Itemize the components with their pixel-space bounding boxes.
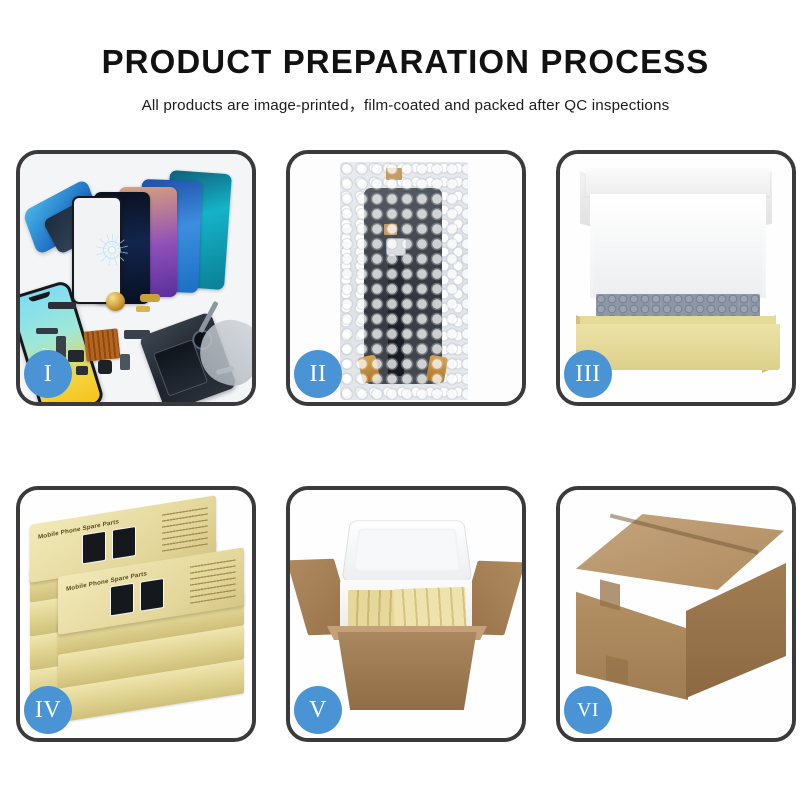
flex-cable [388,248,404,376]
small-part [48,302,76,309]
spec-text-lines [162,507,208,552]
process-step-panel-4[interactable]: Mobile Phone Spare Parts Mobile Phone Sp… [16,486,256,742]
process-step-panel-2[interactable]: II [286,150,526,406]
step-badge-3: III [564,350,612,398]
gold-contact [426,355,448,384]
small-part [124,330,150,339]
cable-connector [386,238,406,256]
step-badge-5: V [294,686,342,734]
small-part [136,306,150,312]
phone-thumbnail [140,578,164,612]
adhesive-tape [386,168,402,180]
box-lid [586,168,770,196]
foam-case-lid [342,520,473,581]
box-label-text: Mobile Phone Spare Parts [38,518,119,541]
small-part [120,354,130,370]
step-badge-2: II [294,350,342,398]
process-step-grid: I II [16,150,795,742]
process-step-panel-6[interactable]: VI [556,486,796,742]
phone-thumbnail [82,531,106,565]
carton-body [328,632,486,710]
small-part [140,294,160,302]
adhesive-tape [384,224,397,235]
step-badge-4: IV [24,686,72,734]
bubble-wrap-bag [340,162,468,400]
header: PRODUCT PREPARATION PROCESS All products… [0,0,811,115]
step-badge-6: VI [564,686,612,734]
foam-sheet [594,210,762,296]
small-part [36,328,58,334]
gold-coil-part [106,292,125,311]
small-part [76,366,88,375]
process-step-panel-3[interactable]: III [556,150,796,406]
carton-tape [606,655,628,684]
phone-thumbnail [110,583,134,617]
carton-left-face [576,568,688,700]
box-label-text: Mobile Phone Spare Parts [66,570,147,593]
page-subtitle: All products are image-printed，film-coat… [0,93,811,115]
process-step-panel-1[interactable]: I [16,150,256,406]
spec-text-lines [190,559,236,604]
page-title: PRODUCT PREPARATION PROCESS [0,44,811,80]
step-badge-1: I [24,350,72,398]
process-step-panel-5[interactable]: V [286,486,526,742]
phone-thumbnail [112,526,136,560]
cracked-screen-icon [96,234,128,266]
small-part [98,360,112,374]
small-part [68,350,84,362]
infographic-page: PRODUCT PREPARATION PROCESS All products… [0,0,811,811]
carton-tape [600,580,620,611]
copper-chip-grid [84,328,121,361]
